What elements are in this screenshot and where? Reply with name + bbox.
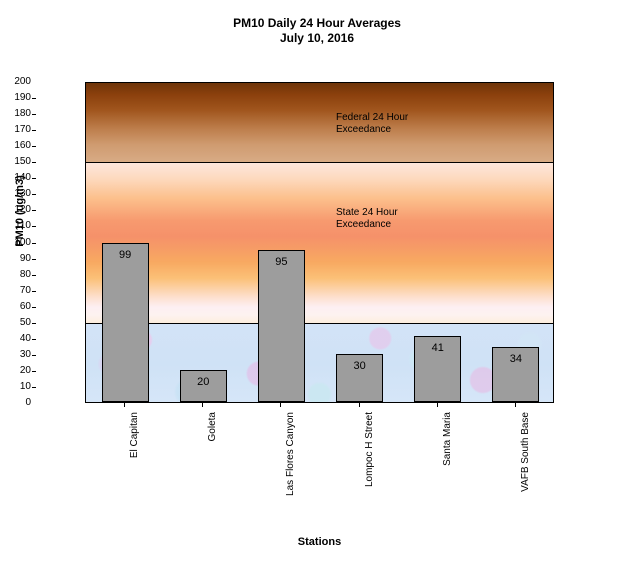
chart-title: PM10 Daily 24 Hour Averages July 10, 201… [0,16,634,46]
x-tick-mark [280,403,281,407]
y-tick-mark [32,339,36,340]
y-tick-mark [32,130,36,131]
y-tick-mark [32,387,36,388]
y-tick-mark [32,194,36,195]
x-tick-label-santa-maria: Santa Maria [442,412,453,466]
x-tick-label-lompoc-h-street: Lompoc H Street [364,412,375,487]
y-tick-label: 120 [5,205,31,215]
bar[interactable]: 95 [258,250,305,402]
bar-value-label: 41 [415,342,460,354]
chart-title-main: PM10 Daily 24 Hour Averages [233,16,401,30]
y-tick-mark [32,307,36,308]
bar[interactable]: 20 [180,370,227,402]
y-tick-mark [32,226,36,227]
x-tick-mark [515,403,516,407]
y-tick-label: 60 [5,302,31,312]
y-tick-label: 0 [5,398,31,408]
y-tick-label: 70 [5,286,31,296]
bar-value-label: 95 [259,256,304,268]
y-tick-label: 90 [5,254,31,264]
x-tick-mark [437,403,438,407]
y-tick-label: 180 [5,109,31,119]
x-tick-label-vafb-south-base: VAFB South Base [520,412,531,492]
y-tick-label: 30 [5,350,31,360]
y-tick-label: 10 [5,382,31,392]
y-tick-label: 50 [5,318,31,328]
y-tick-label: 20 [5,366,31,376]
y-tick-mark [32,243,36,244]
y-tick-mark [32,275,36,276]
plot-area: Federal 24 Hour Exceedance State 24 Hour… [85,82,554,403]
y-tick-label: 80 [5,270,31,280]
y-tick-label: 130 [5,189,31,199]
bar-value-label: 30 [337,360,382,372]
band-good [86,324,553,403]
y-tick-mark [32,114,36,115]
y-tick-label: 200 [5,77,31,87]
annotation-federal-exceedance: Federal 24 Hour Exceedance [336,112,408,136]
y-tick-label: 140 [5,173,31,183]
y-tick-mark [32,210,36,211]
bar-value-label: 34 [493,353,538,365]
y-tick-label: 190 [5,93,31,103]
y-tick-label: 160 [5,141,31,151]
x-tick-mark [359,403,360,407]
chart-subtitle: July 10, 2016 [0,31,634,46]
bar-value-label: 20 [181,376,226,388]
bar[interactable]: 30 [336,354,383,402]
y-tick-mark [32,291,36,292]
y-tick-label: 150 [5,157,31,167]
bar[interactable]: 34 [492,347,539,402]
y-tick-label: 40 [5,334,31,344]
x-tick-label-el-capitan: El Capitan [129,412,140,458]
y-tick-mark [32,98,36,99]
y-axis: 0102030405060708090100110120130140150160… [0,0,85,586]
x-axis-title: Stations [85,536,554,548]
y-tick-mark [32,323,36,324]
bar[interactable]: 41 [414,336,461,402]
annotation-state-exceedance: State 24 Hour Exceedance [336,207,398,231]
x-tick-mark [202,403,203,407]
y-tick-mark [32,178,36,179]
y-tick-label: 110 [5,221,31,231]
y-tick-mark [32,355,36,356]
y-tick-mark [32,371,36,372]
y-tick-mark [32,146,36,147]
bar[interactable]: 99 [102,243,149,402]
y-tick-label: 170 [5,125,31,135]
y-tick-mark [32,162,36,163]
band-state-exceedance [86,163,553,324]
x-tick-mark [124,403,125,407]
x-tick-label-goleta: Goleta [207,412,218,441]
bar-value-label: 99 [103,249,148,261]
x-tick-label-las-flores-canyon: Las Flores Canyon [285,412,296,496]
band-federal-exceedance [86,83,553,163]
y-tick-label: 100 [5,238,31,248]
y-tick-mark [32,259,36,260]
